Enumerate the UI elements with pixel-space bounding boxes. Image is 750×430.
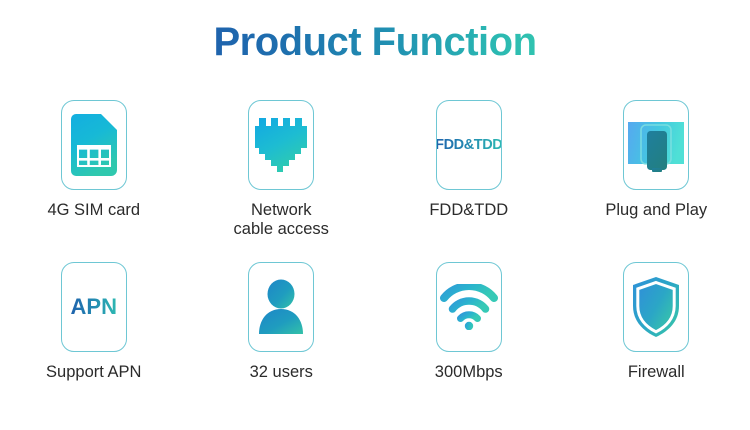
shield-icon (631, 276, 681, 338)
page-title: Product Function (213, 20, 536, 64)
rj45-connector-icon (255, 118, 307, 172)
feature-card[interactable]: APN (61, 262, 127, 352)
feature-label: 4G SIM card (47, 201, 140, 220)
feature-item-plug-and-play[interactable]: Plug and Play (563, 100, 750, 240)
feature-card[interactable] (248, 100, 314, 190)
feature-item-firewall[interactable]: Firewall (563, 262, 750, 382)
feature-card[interactable] (248, 262, 314, 352)
feature-card[interactable] (436, 262, 502, 352)
product-function-page: Product Function (0, 0, 750, 430)
feature-label: 300Mbps (435, 363, 503, 382)
plug-and-play-icon (628, 116, 684, 174)
feature-label: Network cable access (234, 201, 329, 240)
feature-item-support-apn[interactable]: APN Support APN (0, 262, 188, 382)
feature-label: Firewall (628, 363, 685, 382)
feature-label: FDD&TDD (429, 201, 508, 220)
feature-item-network-cable[interactable]: Network cable access (188, 100, 376, 240)
feature-label: Plug and Play (605, 201, 707, 220)
page-header: Product Function (0, 0, 750, 64)
feature-card[interactable]: FDD&TDD (436, 100, 502, 190)
feature-card[interactable] (61, 100, 127, 190)
feature-item-fdd-tdd[interactable]: FDD&TDD FDD&TDD (375, 100, 563, 240)
user-icon (257, 278, 305, 336)
fdd-tdd-text-icon: FDD&TDD (436, 138, 502, 153)
feature-card[interactable] (623, 262, 689, 352)
feature-item-users[interactable]: 32 users (188, 262, 376, 382)
feature-grid: 4G SIM card (0, 100, 750, 382)
feature-label: 32 users (250, 363, 313, 382)
feature-card[interactable] (623, 100, 689, 190)
apn-text-icon: APN (71, 296, 117, 318)
feature-item-speed[interactable]: 300Mbps (375, 262, 563, 382)
wifi-icon (440, 284, 498, 330)
feature-label: Support APN (46, 363, 141, 382)
sim-card-icon (71, 114, 117, 176)
feature-item-sim-card[interactable]: 4G SIM card (0, 100, 188, 240)
